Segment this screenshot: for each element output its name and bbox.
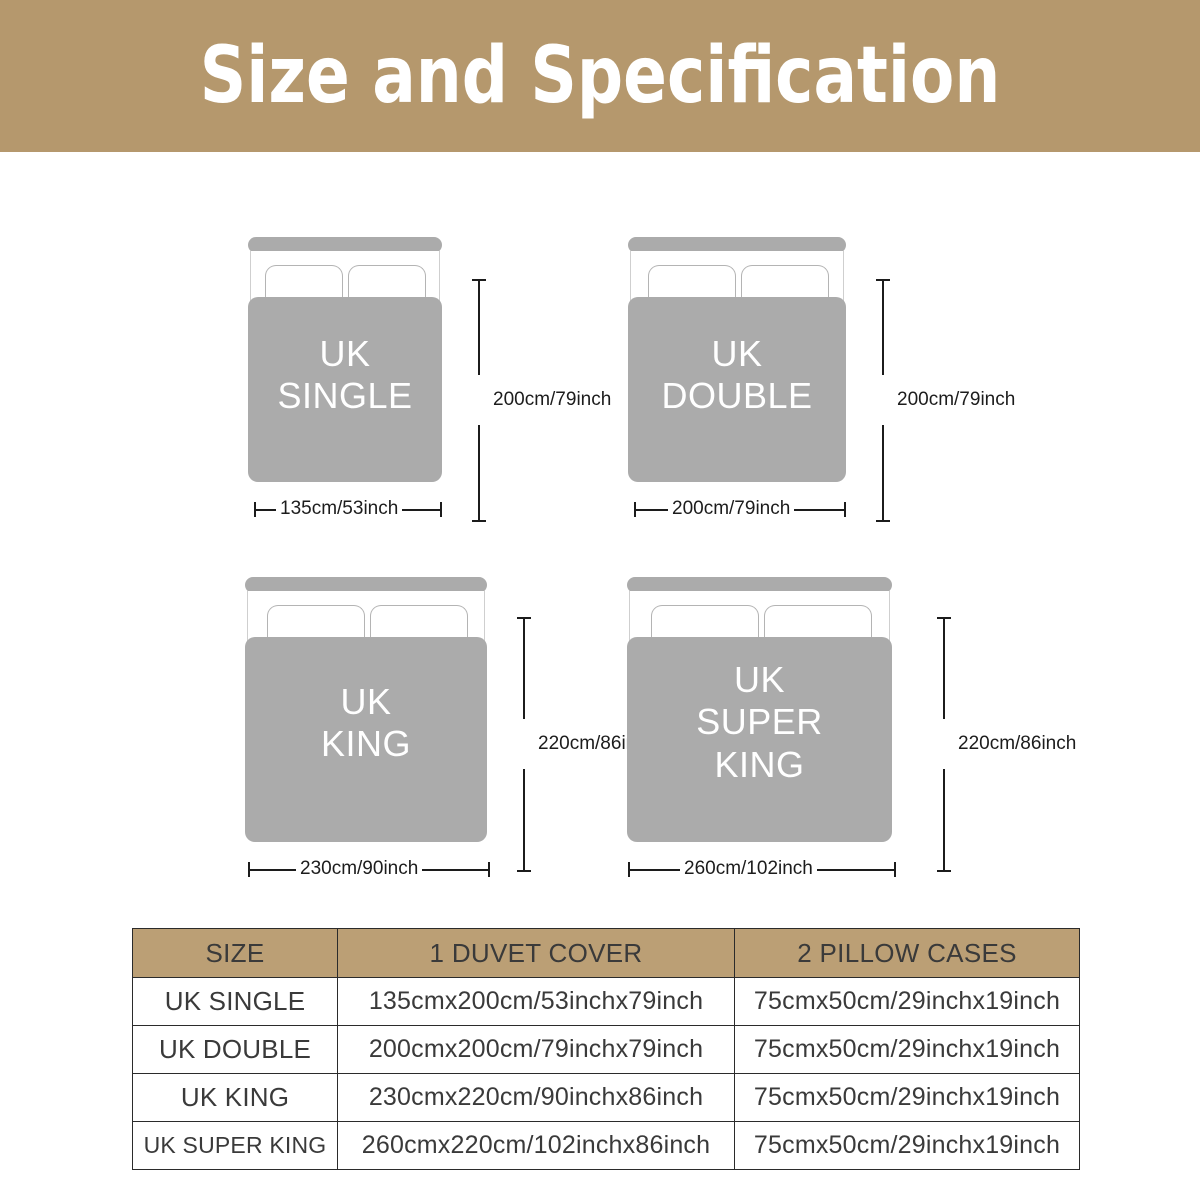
table-header-row: SIZE 1 DUVET COVER 2 PILLOW CASES	[133, 929, 1080, 978]
cell-duvet-cover: 230cmx220cm/90inchx86inch	[338, 1074, 735, 1122]
width-dimension-uk-single: 135cm/53inch	[254, 499, 442, 521]
table-row: UK DOUBLE 200cmx200cm/79inchx79inch 75cm…	[133, 1026, 1080, 1074]
width-dimension-label: 200cm/79inch	[668, 498, 794, 520]
specification-table: SIZE 1 DUVET COVER 2 PILLOW CASES UK SIN…	[132, 928, 1080, 1170]
bed-diagram-uk-double: UK DOUBLE 200cm/79inch 200cm/79inch	[628, 237, 988, 527]
dimension-line-lower	[478, 425, 480, 522]
height-dimension-label: 200cm/79inch	[492, 387, 612, 413]
dimension-tick-right	[488, 862, 490, 877]
bed-graphic: UK DOUBLE	[628, 237, 846, 482]
width-dimension-label: 230cm/90inch	[296, 858, 422, 880]
pillow-right	[764, 605, 872, 641]
column-header-size: SIZE	[133, 929, 338, 978]
duvet-cover	[628, 297, 846, 482]
cell-duvet-cover: 260cmx220cm/102inchx86inch	[338, 1122, 735, 1170]
dimension-tick-right	[894, 862, 896, 877]
pillow-left	[265, 265, 343, 301]
dimension-line-lower	[882, 425, 884, 522]
width-dimension-label: 260cm/102inch	[680, 858, 817, 880]
duvet-cover	[627, 637, 892, 842]
dimension-line-upper	[882, 279, 884, 375]
bed-graphic: UK SUPER KING	[627, 577, 892, 842]
duvet-cover	[248, 297, 442, 482]
bed-diagram-uk-single: UK SINGLE 200cm/79inch 135cm/53inch	[248, 237, 558, 527]
width-dimension-label: 135cm/53inch	[276, 498, 402, 520]
width-dimension-uk-king: 230cm/90inch	[248, 859, 490, 881]
dimension-tick-bottom	[876, 520, 890, 522]
cell-size: UK SINGLE	[133, 978, 338, 1026]
cell-pillow-cases: 75cmx50cm/29inchx19inch	[735, 978, 1080, 1026]
pillow-left	[267, 605, 365, 641]
table-row: UK SINGLE 135cmx200cm/53inchx79inch 75cm…	[133, 978, 1080, 1026]
column-header-duvet-cover: 1 DUVET COVER	[338, 929, 735, 978]
table-row: UK SUPER KING 260cmx220cm/102inchx86inch…	[133, 1122, 1080, 1170]
header-banner: Size and Specification	[0, 0, 1200, 152]
height-dimension-uk-single: 200cm/79inch	[472, 279, 486, 522]
width-dimension-uk-double: 200cm/79inch	[634, 499, 846, 521]
cell-size: UK DOUBLE	[133, 1026, 338, 1074]
height-dimension-label: 220cm/86inch	[957, 731, 1077, 757]
bed-graphic: UK SINGLE	[248, 237, 442, 482]
bed-diagram-uk-king: UK KING 220cm/86inch 230cm/90inch	[245, 577, 605, 877]
cell-duvet-cover: 135cmx200cm/53inchx79inch	[338, 978, 735, 1026]
dimension-tick-right	[440, 502, 442, 517]
height-dimension-uk-king: 220cm/86inch	[517, 617, 531, 872]
duvet-cover	[245, 637, 487, 842]
dimension-line-lower	[523, 769, 525, 872]
pillow-right	[741, 265, 829, 301]
cell-pillow-cases: 75cmx50cm/29inchx19inch	[735, 1122, 1080, 1170]
dimension-line-upper	[523, 617, 525, 719]
bed-graphic: UK KING	[245, 577, 487, 842]
dimension-tick-bottom	[472, 520, 486, 522]
table-row: UK KING 230cmx220cm/90inchx86inch 75cmx5…	[133, 1074, 1080, 1122]
cell-size: UK SUPER KING	[133, 1122, 338, 1170]
pillow-left	[648, 265, 736, 301]
dimension-tick-bottom	[517, 870, 531, 872]
bed-diagram-uk-super-king: UK SUPER KING 220cm/86inch 260cm/102inch	[627, 577, 1047, 877]
cell-size: UK KING	[133, 1074, 338, 1122]
column-header-pillow-cases: 2 PILLOW CASES	[735, 929, 1080, 978]
dimension-tick-right	[844, 502, 846, 517]
width-dimension-uk-super-king: 260cm/102inch	[628, 859, 896, 881]
pillow-left	[651, 605, 759, 641]
height-dimension-label: 200cm/79inch	[896, 387, 1016, 413]
dimension-line-lower	[943, 769, 945, 872]
pillow-right	[348, 265, 426, 301]
height-dimension-uk-double: 200cm/79inch	[876, 279, 890, 522]
dimension-line-upper	[943, 617, 945, 719]
bed-diagram-area: UK SINGLE 200cm/79inch 135cm/53inch	[0, 152, 1200, 912]
dimension-line-upper	[478, 279, 480, 375]
dimension-tick-bottom	[937, 870, 951, 872]
height-dimension-uk-super-king: 220cm/86inch	[937, 617, 951, 872]
pillow-right	[370, 605, 468, 641]
page-title: Size and Specification	[200, 37, 1001, 115]
cell-duvet-cover: 200cmx200cm/79inchx79inch	[338, 1026, 735, 1074]
cell-pillow-cases: 75cmx50cm/29inchx19inch	[735, 1074, 1080, 1122]
cell-pillow-cases: 75cmx50cm/29inchx19inch	[735, 1026, 1080, 1074]
